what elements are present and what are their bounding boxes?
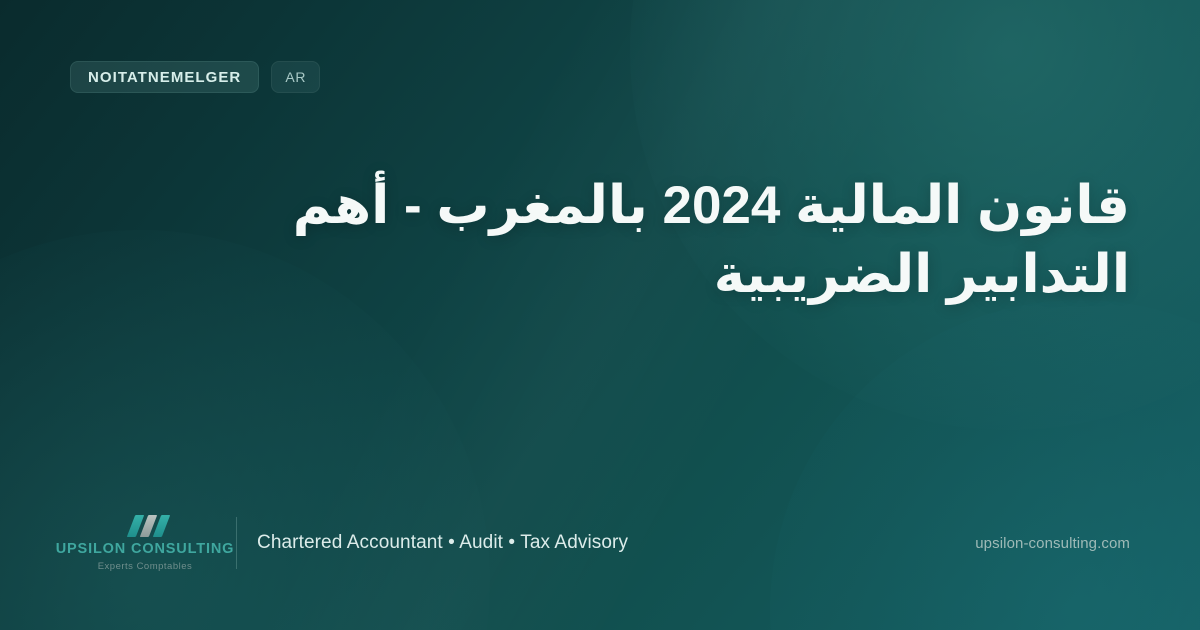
brand-name: UPSILON CONSULTING [56, 542, 235, 557]
footer-divider [236, 517, 237, 569]
brand-tagline: Experts Comptables [98, 562, 193, 572]
website-url[interactable]: upsilon-consulting.com [975, 535, 1130, 552]
social-share-card: NOITATNEMELGER AR قانون المالية 2024 بال… [0, 0, 1200, 630]
category-badge[interactable]: NOITATNEMELGER [70, 61, 259, 93]
card-footer: UPSILON CONSULTING Experts Comptables Ch… [70, 512, 1130, 574]
page-title: قانون المالية 2024 بالمغرب - أهم التدابي… [170, 172, 1130, 310]
upsilon-bars-icon [131, 515, 166, 537]
services-list: Chartered Accountant • Audit • Tax Advis… [257, 532, 628, 554]
badge-row: NOITATNEMELGER AR [70, 61, 320, 93]
brand-logo[interactable]: UPSILON CONSULTING Experts Comptables [70, 515, 220, 571]
language-badge[interactable]: AR [271, 61, 320, 93]
card-content: NOITATNEMELGER AR قانون المالية 2024 بال… [0, 0, 1200, 630]
